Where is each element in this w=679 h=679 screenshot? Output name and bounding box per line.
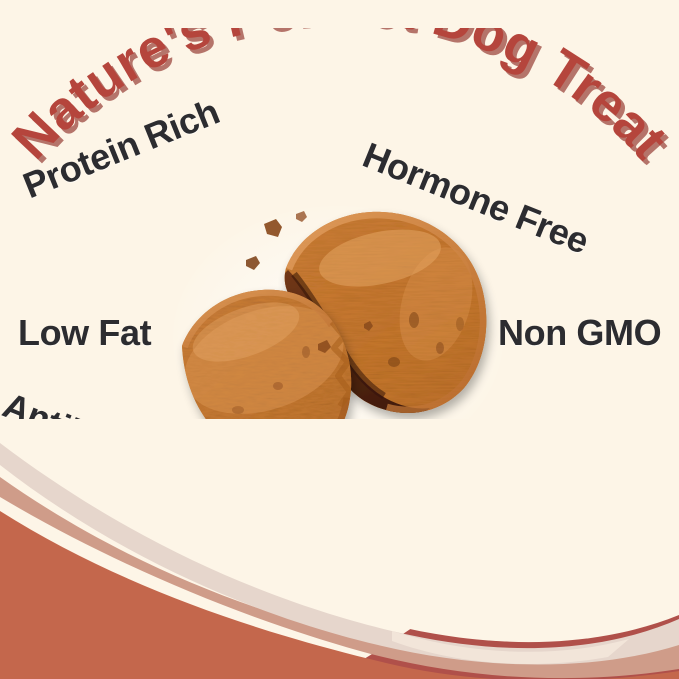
benefit-label-non-gmo: Non GMO xyxy=(498,314,661,353)
product-infographic: Nature's Perfect Dog Treat Nature's Perf… xyxy=(0,0,679,679)
vitamins-line-1: B6 & B12 xyxy=(0,500,679,540)
benefit-label-vitamins: B6 & B12 Vitamins xyxy=(0,500,679,581)
benefit-label-low-fat: Low Fat xyxy=(18,314,151,353)
vitamins-line-2: Vitamins xyxy=(0,540,679,580)
ribbon-sliver xyxy=(392,631,629,664)
product-photo xyxy=(168,196,508,476)
